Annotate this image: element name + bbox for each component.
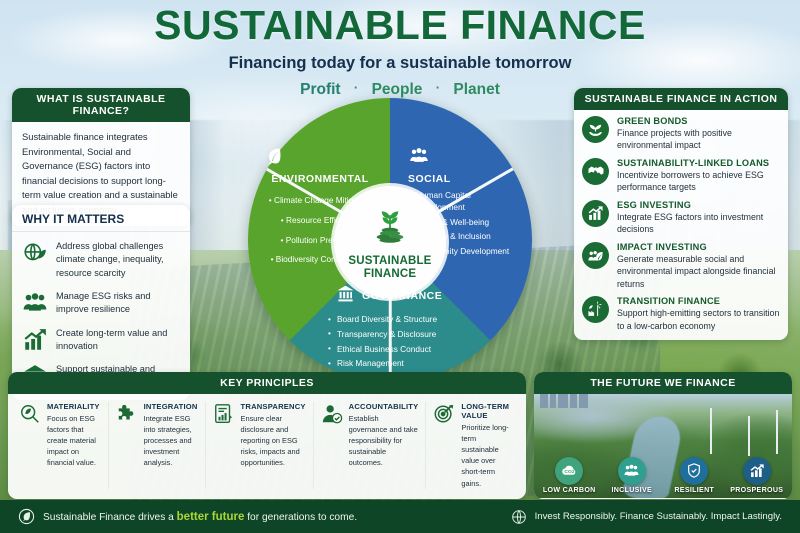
factory-turbine-icon xyxy=(582,296,609,323)
principle-title: MATERIALITY xyxy=(47,402,101,411)
people-leaf-icon xyxy=(582,242,609,269)
tagline-word-people: People xyxy=(372,81,423,98)
people-group-icon xyxy=(618,457,646,485)
action-desc: Generate measurable social and environme… xyxy=(617,253,780,290)
future-badges: CO2 LOW CARBON INCLUSIVE xyxy=(534,452,792,498)
shield-check-icon xyxy=(680,457,708,485)
tagline-separator-1: · xyxy=(354,80,358,95)
action-text: TRANSITION FINANCE Support high-emitting… xyxy=(617,296,780,332)
footer-message-pre: Sustainable Finance drives a xyxy=(43,512,177,523)
action-item[interactable]: IMPACT INVESTING Generate measurable soc… xyxy=(582,242,780,290)
plant-coins-icon xyxy=(368,204,412,253)
wind-turbine-icon xyxy=(748,416,750,456)
in-action-list: GREEN BONDS Finance projects with positi… xyxy=(574,110,788,340)
action-text: IMPACT INVESTING Generate measurable soc… xyxy=(617,242,780,290)
person-check-icon xyxy=(321,403,343,489)
why-it-matters-card: WHY IT MATTERS Address global challenges… xyxy=(12,205,190,400)
principle-item[interactable]: TRANSPARENCY Ensure clear disclosure and… xyxy=(206,402,314,489)
action-text: SUSTAINABILITY-LINKED LOANS Incentivize … xyxy=(617,158,780,194)
wheel-hub: SUSTAINABLE FINANCE xyxy=(334,186,446,298)
future-badge-label: RESILIENT xyxy=(664,486,724,494)
target-icon xyxy=(433,403,455,489)
sustainable-finance-in-action-card: SUSTAINABLE FINANCE IN ACTION GREEN BOND… xyxy=(574,88,788,340)
principle-title: ACCOUNTABILITY xyxy=(349,402,419,411)
segment-title-environmental: ENVIRONMENTAL xyxy=(264,173,376,185)
future-badge-label: INCLUSIVE xyxy=(602,486,662,494)
bank-building-icon xyxy=(336,284,355,308)
tagline-word-profit: Profit xyxy=(300,81,340,98)
what-is-heading: WHAT IS SUSTAINABLE FINANCE? xyxy=(12,88,190,122)
future-badge-label: LOW CARBON xyxy=(539,486,599,494)
footer-left: Sustainable Finance drives a better futu… xyxy=(18,508,357,525)
principle-text: MATERIALITY Focus on ESG factors that cr… xyxy=(47,402,101,489)
action-item[interactable]: GREEN BONDS Finance projects with positi… xyxy=(582,116,780,152)
principle-text: LONG-TERM VALUE Prioritize long-term sus… xyxy=(461,402,515,489)
key-principles-list: MATERIALITY Focus on ESG factors that cr… xyxy=(8,394,526,499)
action-text: GREEN BONDS Finance projects with positi… xyxy=(617,116,780,152)
action-title: GREEN BONDS xyxy=(617,116,780,126)
footer-bar: Sustainable Finance drives a better futu… xyxy=(0,500,800,533)
leaf-circle-icon xyxy=(18,508,35,525)
action-text: ESG INVESTING Integrate ESG factors into… xyxy=(617,200,780,236)
the-future-we-finance-card: THE FUTURE WE FINANCE CO2 LOW CARBON xyxy=(534,372,792,499)
segment-list-governance: Board Diversity & Structure Transparency… xyxy=(328,314,478,370)
bar-chart-arrow-icon xyxy=(743,457,771,485)
principle-item[interactable]: ACCOUNTABILITY Establish governance and … xyxy=(314,402,427,489)
segment-item: Ethical Business Conduct xyxy=(328,344,478,356)
footer-message-highlight: better future xyxy=(177,511,245,523)
action-desc: Support high-emitting sectors to transit… xyxy=(617,307,780,332)
esg-wheel-diagram: ENVIRONMENTAL Climate Change Mitigation … xyxy=(240,98,540,386)
principle-title: TRANSPARENCY xyxy=(241,402,306,411)
segment-item: Transparency & Disclosure xyxy=(328,329,478,341)
future-badge[interactable]: PROSPEROUS xyxy=(727,457,787,494)
footer-message: Sustainable Finance drives a better futu… xyxy=(43,511,357,523)
principle-item[interactable]: MATERIALITY Focus on ESG factors that cr… xyxy=(12,402,109,489)
action-title: TRANSITION FINANCE xyxy=(617,296,780,306)
people-group-icon xyxy=(22,290,48,316)
why-item-text: Address global challenges climate change… xyxy=(56,240,180,280)
page-subtitle: Financing today for a sustainable tomorr… xyxy=(0,54,800,73)
why-item-text: Create long-term value and innovation xyxy=(56,327,180,354)
principle-text: ACCOUNTABILITY Establish governance and … xyxy=(349,402,419,489)
leaf-icon xyxy=(264,146,376,171)
action-title: SUSTAINABILITY-LINKED LOANS xyxy=(617,158,780,168)
action-desc: Integrate ESG factors into investment de… xyxy=(617,211,780,236)
footer-right: Invest Responsibly. Finance Sustainably.… xyxy=(511,509,782,525)
action-title: IMPACT INVESTING xyxy=(617,242,780,252)
report-chart-icon xyxy=(213,403,235,489)
globe-leaf-icon xyxy=(22,240,48,266)
hub-line-1: SUSTAINABLE xyxy=(348,255,431,268)
why-item: Address global challenges climate change… xyxy=(12,234,190,284)
why-item: Manage ESG risks and improve resilience xyxy=(12,284,190,321)
people-group-icon xyxy=(408,146,520,171)
hub-line-2: FINANCE xyxy=(348,268,431,281)
footer-message-post: for generations to come. xyxy=(244,512,357,523)
page-title: SUSTAINABLE FINANCE xyxy=(0,4,800,47)
principle-desc: Integrate ESG into strategies, processes… xyxy=(144,413,198,469)
action-desc: Finance projects with positive environme… xyxy=(617,127,780,152)
future-photo: CO2 LOW CARBON INCLUSIVE xyxy=(534,394,792,498)
principle-text: TRANSPARENCY Ensure clear disclosure and… xyxy=(241,402,306,489)
future-badge[interactable]: CO2 LOW CARBON xyxy=(539,457,599,494)
segment-item: Risk Management xyxy=(328,358,478,370)
handshake-icon xyxy=(582,158,609,185)
why-it-matters-heading: WHY IT MATTERS xyxy=(12,205,190,232)
future-badge-label: PROSPEROUS xyxy=(727,486,787,494)
future-heading: THE FUTURE WE FINANCE xyxy=(534,372,792,394)
key-principles-heading: KEY PRINCIPLES xyxy=(8,372,526,394)
action-desc: Incentivize borrowers to achieve ESG per… xyxy=(617,169,780,194)
wheel-hub-label: SUSTAINABLE FINANCE xyxy=(348,255,431,281)
action-item[interactable]: ESG INVESTING Integrate ESG factors into… xyxy=(582,200,780,236)
co2-cloud-icon: CO2 xyxy=(555,457,583,485)
principle-desc: Focus on ESG factors that create materia… xyxy=(47,413,101,469)
tagline-word-planet: Planet xyxy=(453,81,500,98)
page-header: SUSTAINABLE FINANCE Financing today for … xyxy=(0,0,800,99)
principle-text: INTEGRATION Integrate ESG into strategie… xyxy=(144,402,198,489)
segment-title-social: SOCIAL xyxy=(408,173,520,185)
action-title: ESG INVESTING xyxy=(617,200,780,210)
bar-chart-arrow-icon xyxy=(582,200,609,227)
key-principles-card: KEY PRINCIPLES MATERIALITY Focus on ESG … xyxy=(8,372,526,499)
principle-desc: Establish governance and take responsibi… xyxy=(349,413,419,469)
future-badge[interactable]: INCLUSIVE xyxy=(602,457,662,494)
segment-item: Board Diversity & Structure xyxy=(328,314,478,326)
globe-icon xyxy=(511,509,527,525)
in-action-heading: SUSTAINABLE FINANCE IN ACTION xyxy=(574,88,788,110)
wind-turbine-icon xyxy=(710,408,712,454)
footer-slogan: Invest Responsibly. Finance Sustainably.… xyxy=(535,511,782,522)
tagline-separator-2: · xyxy=(436,80,440,95)
principle-item[interactable]: LONG-TERM VALUE Prioritize long-term sus… xyxy=(426,402,522,489)
puzzle-piece-icon xyxy=(116,403,138,489)
principle-desc: Prioritize long-term sustainable value o… xyxy=(461,422,515,489)
hand-plant-icon xyxy=(582,116,609,143)
wind-turbine-icon xyxy=(776,410,778,454)
action-item[interactable]: SUSTAINABILITY-LINKED LOANS Incentivize … xyxy=(582,158,780,194)
future-badge[interactable]: RESILIENT xyxy=(664,457,724,494)
why-item: Create long-term value and innovation xyxy=(12,321,190,358)
principle-title: INTEGRATION xyxy=(144,402,198,411)
growth-chart-icon xyxy=(22,327,48,353)
principle-desc: Ensure clear disclosure and reporting on… xyxy=(241,413,306,469)
why-item-text: Manage ESG risks and improve resilience xyxy=(56,290,180,317)
principle-title: LONG-TERM VALUE xyxy=(461,402,515,420)
svg-text:CO2: CO2 xyxy=(564,469,574,475)
magnifier-leaf-icon xyxy=(19,403,41,489)
principle-item[interactable]: INTEGRATION Integrate ESG into strategie… xyxy=(109,402,206,489)
action-item[interactable]: TRANSITION FINANCE Support high-emitting… xyxy=(582,296,780,332)
